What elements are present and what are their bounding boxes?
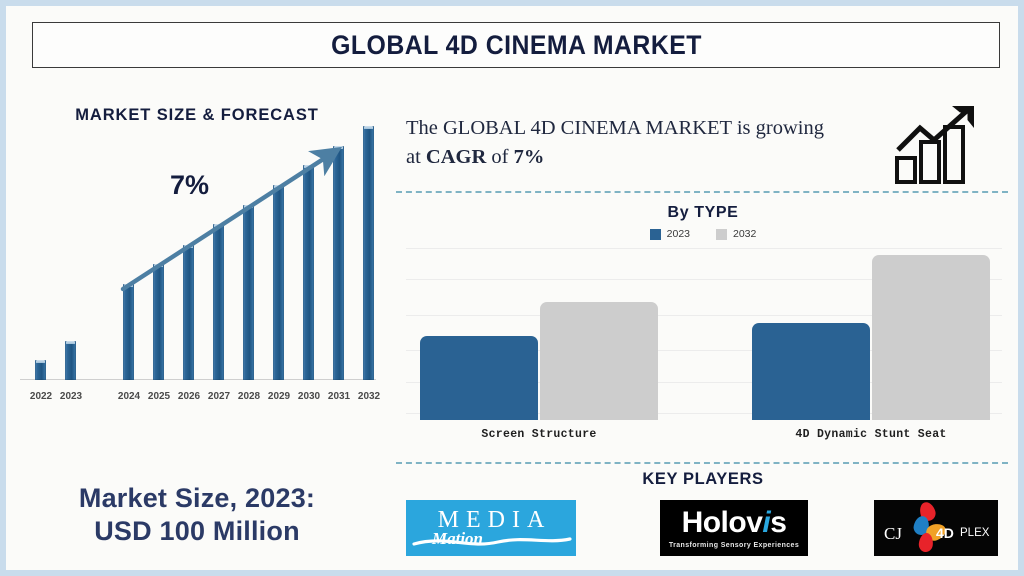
type-category-label-1: 4D Dynamic Stunt Seat — [722, 428, 1020, 441]
forecast-bar-2024 — [123, 284, 134, 380]
legend-swatch-2032 — [716, 229, 727, 240]
holovis-tagline: Transforming Sensory Experiences — [669, 542, 799, 549]
by-type-legend: 2023 2032 — [388, 228, 1018, 240]
legend-label-2023: 2023 — [667, 228, 690, 240]
forecast-bar-2032 — [363, 126, 374, 380]
forecast-bar-2023 — [65, 341, 76, 380]
forecast-bar-2025 — [153, 264, 164, 380]
type-bar-4d-dynamic-stunt-seat-2023 — [752, 323, 870, 420]
market-size-forecast-heading: MARKET SIZE & FORECAST — [6, 106, 388, 125]
infographic-frame: GLOBAL 4D CINEMA MARKET MARKET SIZE & FO… — [6, 6, 1018, 570]
legend-swatch-2023 — [650, 229, 661, 240]
cj-4d-text: 4D — [936, 525, 954, 541]
forecast-year-label-2026: 2026 — [173, 390, 203, 402]
holovis-wordmark: Holovis — [682, 508, 787, 538]
forecast-bar-2028 — [243, 205, 254, 380]
holovis-text-b: s — [770, 506, 786, 539]
forecast-year-label-2029: 2029 — [263, 390, 293, 402]
forecast-year-label-2028: 2028 — [233, 390, 263, 402]
by-type-heading: By TYPE — [388, 204, 1018, 222]
market-size-forecast-panel: MARKET SIZE & FORECAST 20222023202420252… — [6, 90, 388, 570]
forecast-year-label-2030: 2030 — [293, 390, 323, 402]
forecast-bar-2022 — [35, 360, 46, 380]
forecast-year-label-2027: 2027 — [203, 390, 233, 402]
type-bar-screen-structure-2032 — [540, 302, 658, 420]
key-players-heading: KEY PLAYERS — [388, 470, 1018, 489]
forecast-year-label-2023: 2023 — [55, 390, 85, 402]
forecast-year-label-2031: 2031 — [323, 390, 353, 402]
type-bar-4d-dynamic-stunt-seat-2032 — [872, 255, 990, 420]
cagr-statement: The GLOBAL 4D CINEMA MARKET is growing a… — [406, 114, 911, 172]
key-players-logos: MEDIA Mation Holovis Transforming Sensor… — [388, 500, 1018, 562]
cj-wordmark: CJ — [884, 524, 902, 544]
forecast-year-label-2032: 2032 — [353, 390, 383, 402]
market-size-line2: USD 100 Million — [94, 516, 300, 546]
cj-plex-text: PLEX — [960, 527, 989, 539]
logo-holovis: Holovis Transforming Sensory Experiences — [660, 500, 808, 556]
page-title: GLOBAL 4D CINEMA MARKET — [331, 30, 702, 61]
cagr-statement-row: The GLOBAL 4D CINEMA MARKET is growing a… — [406, 102, 1006, 182]
forecast-bar-2031 — [333, 146, 344, 380]
cagr-sentence-prefix: at — [406, 146, 426, 168]
cagr-keyword: CAGR — [426, 146, 486, 168]
forecast-bar-2030 — [303, 165, 314, 380]
cagr-value: 7% — [514, 146, 545, 168]
legend-label-2032: 2032 — [733, 228, 756, 240]
holovis-text-a: Holov — [682, 506, 763, 539]
forecast-year-label-2025: 2025 — [143, 390, 173, 402]
legend-item-2032: 2032 — [716, 228, 756, 240]
forecast-bar-2027 — [213, 224, 224, 380]
market-size-value: Market Size, 2023: USD 100 Million — [6, 482, 388, 548]
forecast-year-label-2024: 2024 — [113, 390, 143, 402]
divider-top — [396, 191, 1008, 193]
logo-cj-4dplex: CJ 4D PLEX — [874, 500, 998, 556]
legend-item-2023: 2023 — [650, 228, 690, 240]
cagr-annotation: 7% — [170, 170, 209, 201]
media-mation-wave-icon — [406, 533, 576, 551]
forecast-year-label-2022: 2022 — [25, 390, 55, 402]
page-title-box: GLOBAL 4D CINEMA MARKET — [32, 22, 1000, 68]
type-category-label-0: Screen Structure — [390, 428, 688, 441]
gridline-0 — [406, 248, 1002, 249]
divider-bottom — [396, 462, 1008, 464]
type-bar-screen-structure-2023 — [420, 336, 538, 420]
market-size-forecast-chart: 2022202320242025202620272028202920302031… — [20, 142, 378, 432]
market-size-line1: Market Size, 2023: — [79, 483, 315, 513]
cagr-sentence-mid: of — [486, 146, 513, 168]
cagr-sentence-line1: The GLOBAL 4D CINEMA MARKET is growing — [406, 117, 824, 139]
logo-media-mation: MEDIA Mation — [406, 500, 576, 556]
right-panel: The GLOBAL 4D CINEMA MARKET is growing a… — [388, 90, 1018, 570]
by-type-chart — [406, 248, 1002, 420]
forecast-bar-2029 — [273, 185, 284, 380]
growth-chart-icon — [894, 102, 990, 184]
forecast-bar-2026 — [183, 245, 194, 380]
